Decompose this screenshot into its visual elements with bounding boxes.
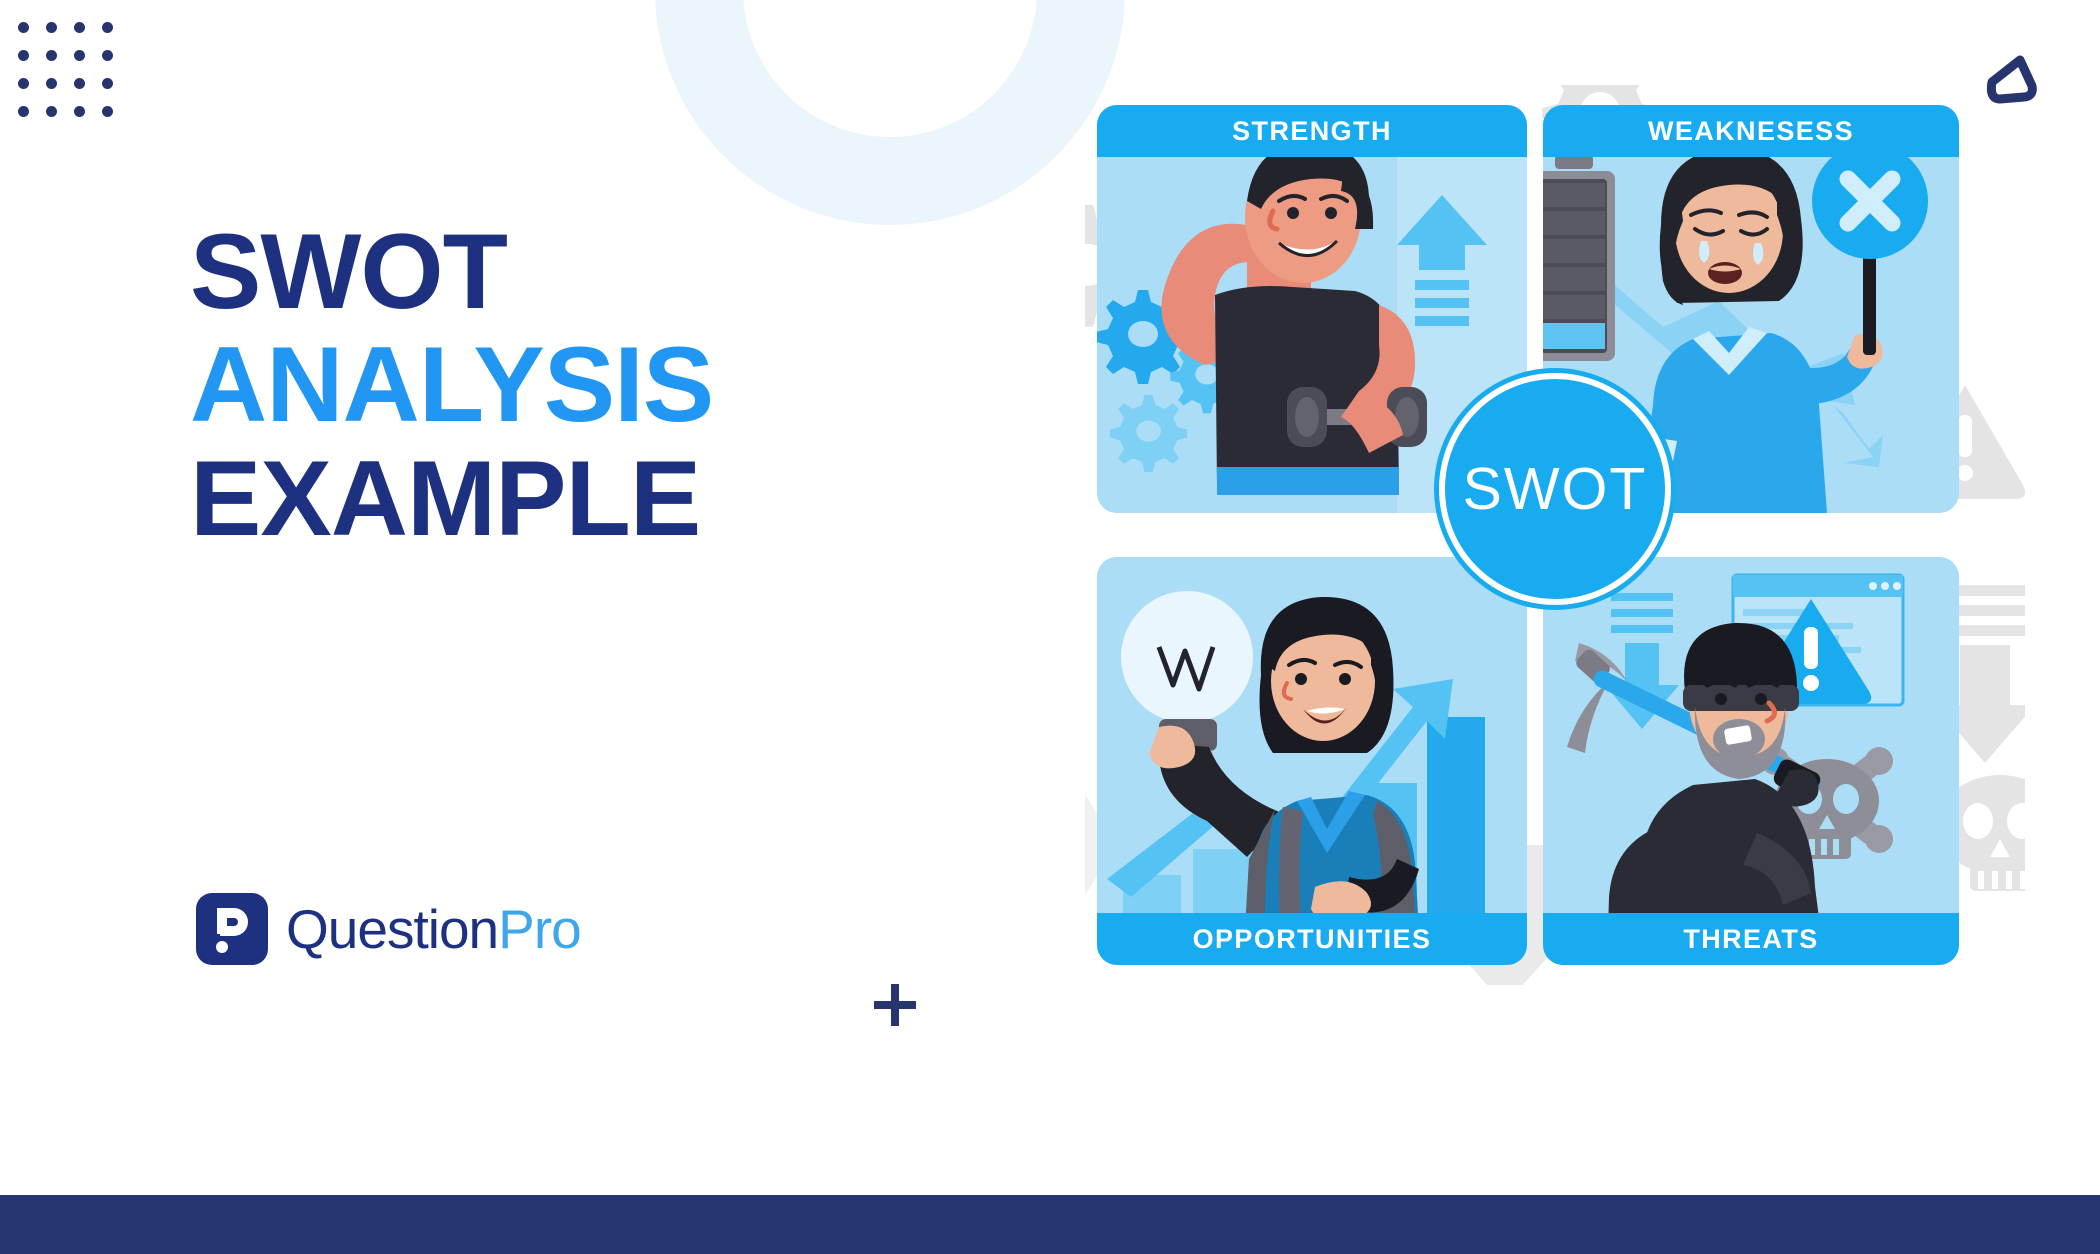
grid-dot [46,78,57,89]
grid-dot [102,50,113,61]
grid-dot [102,22,113,33]
footer-bar [0,1195,2100,1254]
background-ring-decoration [655,0,1125,225]
weaknesses-label: WEAKNESESS [1648,116,1854,147]
grid-dot [46,50,57,61]
page-title-line-3: EXAMPLE [190,442,890,555]
swot-quadrant-opportunities[interactable]: OPPORTUNITIES [1097,557,1527,965]
strength-label-bar: STRENGTH [1097,105,1527,157]
grid-dot [102,78,113,89]
brand-name-part-1: Question [286,898,498,960]
opportunities-label: OPPORTUNITIES [1193,924,1432,955]
opportunities-label-bar: OPPORTUNITIES [1097,913,1527,965]
threats-label-bar: THREATS [1543,913,1959,965]
questionpro-logo: QuestionPro [196,893,581,965]
questionpro-mark-icon [196,893,268,965]
plus-icon [868,978,922,1032]
swot-quadrant-threats[interactable]: THREATS [1543,557,1959,965]
dot-grid-decoration [18,22,130,134]
page-title: SWOT ANALYSIS EXAMPLE [190,215,890,555]
grid-dot [46,106,57,117]
grid-dot [74,50,85,61]
grid-dot [102,106,113,117]
grid-dot [74,22,85,33]
swot-center-badge: SWOT [1439,373,1671,605]
grid-dot [18,106,29,117]
grid-dot [18,50,29,61]
page-title-line-2: ANALYSIS [190,328,890,441]
strength-label: STRENGTH [1232,116,1392,147]
grid-dot [18,22,29,33]
page-title-block: SWOT ANALYSIS EXAMPLE [190,215,890,555]
grid-dot [46,22,57,33]
swot-center-label: SWOT [1463,455,1648,523]
swot-diagram: STRENGTH [1085,85,2025,985]
opportunities-illustration [1097,557,1527,965]
grid-dot [74,78,85,89]
grid-dot [18,78,29,89]
threats-label: THREATS [1683,924,1818,955]
threats-illustration [1543,557,1959,965]
grid-dot [74,106,85,117]
brand-wordmark: QuestionPro [286,897,581,961]
brand-name-part-2: Pro [498,898,581,960]
weaknesses-label-bar: WEAKNESESS [1543,105,1959,157]
page-title-line-1: SWOT [190,215,890,328]
